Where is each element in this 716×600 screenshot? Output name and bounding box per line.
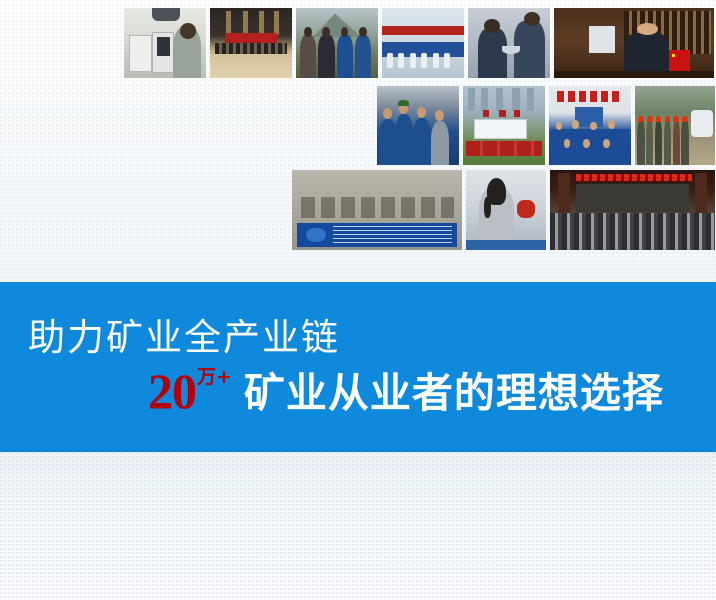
promo-banner-page: 助力矿业全产业链 20 万+ 矿业从业者的理想选择 — [0, 0, 716, 600]
photo-woman-sampling — [466, 170, 546, 250]
photo-blue-uniform-crew — [377, 86, 459, 165]
stat-number-suffix: 万+ — [197, 368, 232, 387]
stat-number: 20 — [148, 366, 196, 416]
banner-headline-line2-text: 矿业从业者的理想选择 — [244, 371, 664, 415]
photo-executive-desk — [554, 8, 714, 78]
photo-two-men-bowl — [468, 8, 550, 78]
photo-four-men-mountain — [296, 8, 378, 78]
photo-blue-team-building — [549, 86, 631, 165]
photo-lab-bottles — [382, 8, 464, 78]
photo-group-white-banner — [463, 86, 545, 165]
photo-company-sign — [292, 170, 462, 250]
bottom-photo-strip — [0, 452, 716, 600]
photo-large-group-conference — [550, 170, 715, 250]
banner-headline-line1: 助力矿业全产业链 — [28, 316, 340, 360]
photo-red-helmet-site — [635, 86, 715, 165]
photo-collage-section — [0, 0, 716, 282]
banner-headline-line2: 20 万+ 矿业从业者的理想选择 — [148, 366, 664, 416]
photo-lab-equipment — [124, 8, 206, 78]
photo-conference-hall — [210, 8, 292, 78]
